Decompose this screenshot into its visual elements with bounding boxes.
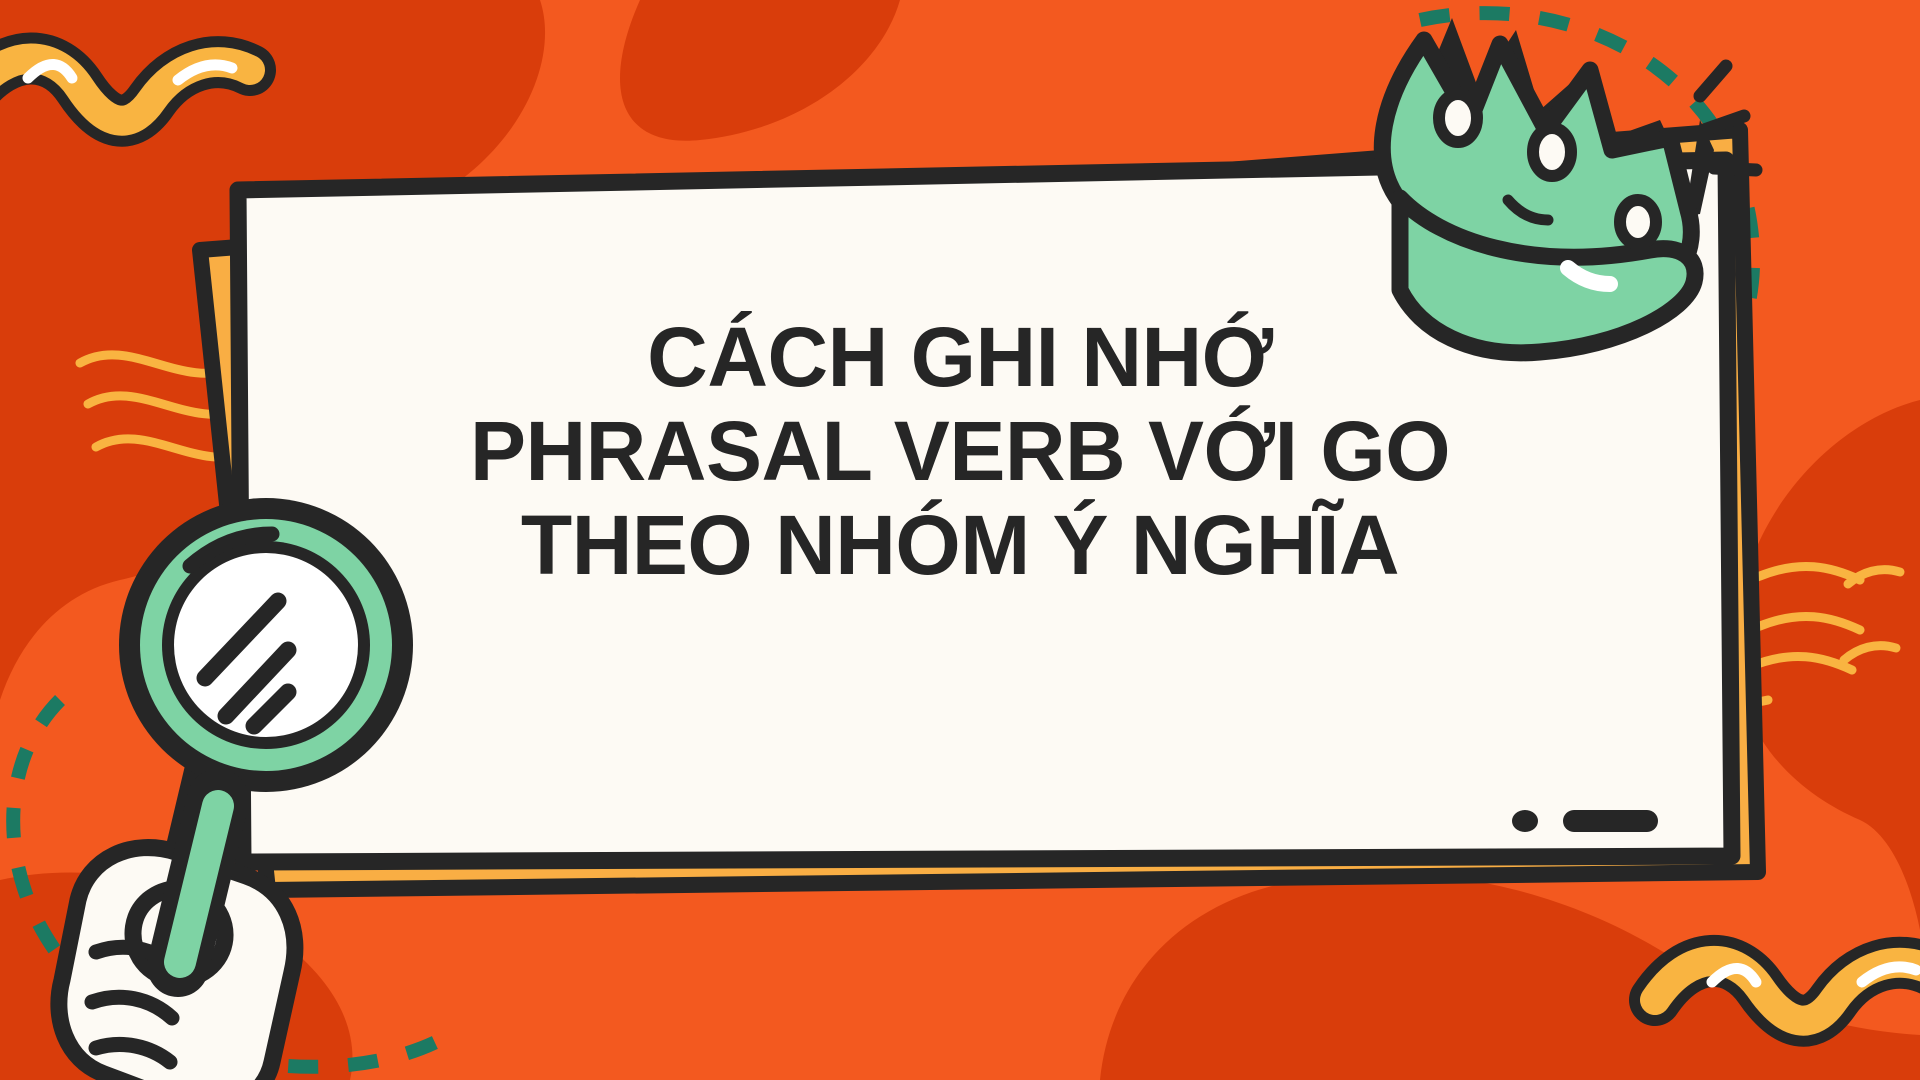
- poster-canvas: CÁCH GHI NHỚ PHRASAL VERB VỚI GO THEO NH…: [0, 0, 1920, 1080]
- foreground-layer: [0, 0, 1920, 1080]
- crown-icon: [1382, 18, 1756, 353]
- hand-icon: [59, 800, 295, 1080]
